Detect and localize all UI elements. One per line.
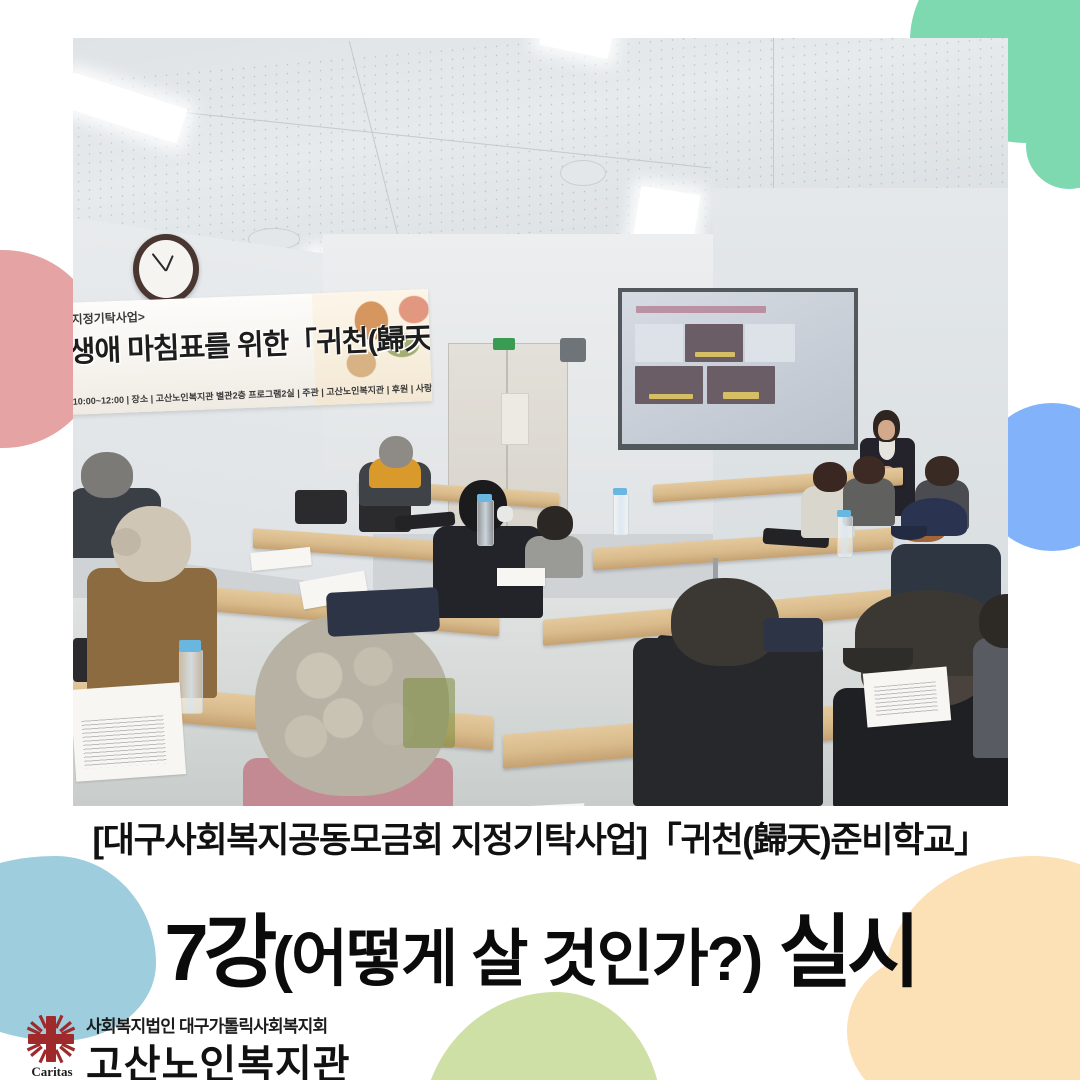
bottle-cap	[477, 494, 492, 502]
slide-title-text	[636, 306, 766, 313]
handout-paper	[497, 568, 545, 586]
cap-brim	[891, 526, 927, 540]
bottle-cap	[837, 510, 851, 517]
caritas-cross-icon	[24, 1012, 78, 1066]
slide-caption-bar	[723, 392, 759, 399]
poster-card: 지정기탁사업> 생애 마침표를 위한「귀천(歸天)준비학교」 10:00~12:…	[0, 0, 1080, 1080]
attendee-head	[81, 452, 133, 498]
backpack	[763, 618, 823, 652]
bottle-cap	[179, 640, 201, 652]
slide-subtitle-bar	[695, 352, 735, 357]
water-bottle	[477, 500, 494, 546]
attendee-hair-bun	[111, 528, 141, 556]
caritas-wordmark: Caritas	[24, 1064, 80, 1080]
attendee-face-mask	[497, 506, 513, 522]
handout-text-lines	[874, 681, 938, 716]
headline-subtitle: (어떻게 살 것인가?)	[272, 925, 761, 994]
attendee-head	[925, 456, 959, 486]
headline-lesson-number: 7강	[164, 908, 272, 997]
poster-caption: [대구사회복지공동모금회 지정기탁사업]「귀천(歸天)준비학교」	[0, 812, 1080, 863]
water-bottle	[837, 516, 853, 558]
exit-sign-icon	[493, 338, 515, 350]
instructor-face	[878, 420, 895, 440]
wall-speaker-icon	[560, 338, 586, 362]
wall-switch-panel	[501, 393, 529, 445]
event-banner: 지정기탁사업> 생애 마침표를 위한「귀천(歸天)준비학교」 10:00~12:…	[73, 289, 432, 415]
poster-headline: 7강(어떻게 살 것인가?) 실시	[0, 888, 1080, 1004]
banner-superline: 지정기탁사업>	[73, 308, 145, 328]
handout-text-lines	[81, 715, 166, 769]
backpack	[326, 587, 440, 637]
headline-space	[761, 925, 778, 994]
attendee-head	[379, 436, 413, 468]
organization-logo: Caritas 사회복지법인 대구가톨릭사회복지회 고산노인복지관	[24, 1008, 444, 1080]
attendee-torso	[973, 638, 1008, 758]
attendee-head	[853, 456, 885, 484]
headline-status: 실시	[779, 908, 916, 997]
chair-seat-green	[403, 678, 455, 748]
slide-thumb-blank	[635, 324, 683, 362]
water-bottle	[613, 494, 629, 536]
logo-center-name: 고산노인복지관	[86, 1032, 351, 1080]
slide-thumb-blank	[745, 324, 795, 362]
ceiling-speaker	[560, 160, 606, 186]
attendee-head	[537, 506, 573, 540]
water-bottle	[179, 650, 203, 714]
slide-caption-bar	[649, 394, 693, 399]
classroom-lecture-photo: 지정기탁사업> 생애 마침표를 위한「귀천(歸天)준비학교」 10:00~12:…	[73, 38, 1008, 806]
bottle-cap	[613, 488, 627, 495]
chair	[295, 490, 347, 524]
attendee-head	[813, 462, 847, 492]
decoration-green-blob	[422, 992, 662, 1080]
